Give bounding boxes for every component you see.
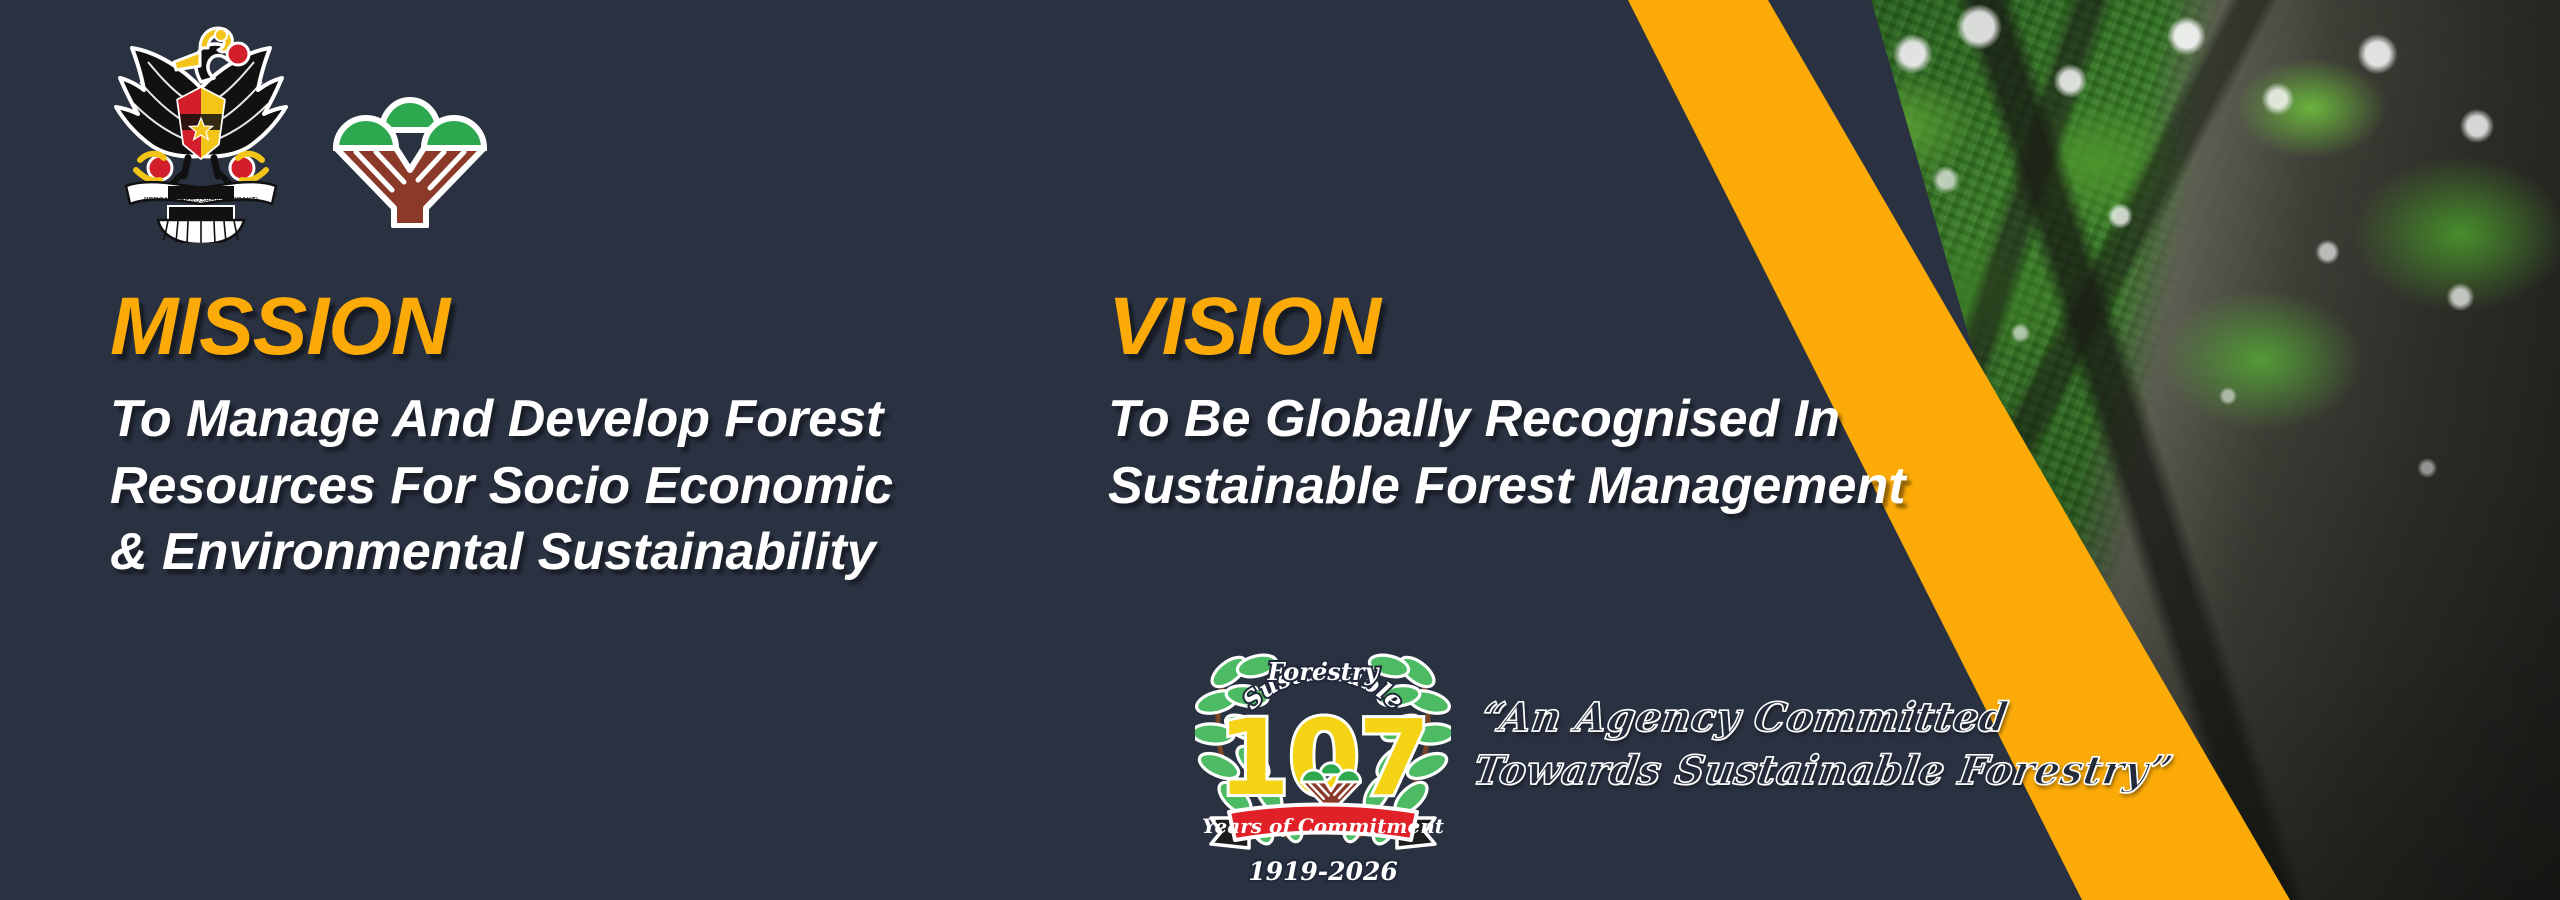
vision-line-2: Sustainable Forest Management [1108,453,2088,520]
tagline-line-2: Towards Sustainable Forestry” [1470,745,2078,798]
anniversary-emblem-icon: Sustainable Forestry 107 [1195,622,1451,890]
emblem-forestry-text: Forestry [1267,657,1381,686]
mission-line-1: To Manage And Develop Forest [110,386,1030,453]
tagline-line-1: “An Agency Committed [1478,692,2086,745]
forest-department-tree-icon [330,18,490,228]
mission-line-3: & Environmental Sustainability [110,519,1030,586]
sarawak-coat-of-arms-icon: BERSATU BERUSAHA BERBAKTI [96,18,306,243]
mission-vision-banner: BERSATU BERUSAHA BERBAKTI [0,0,2560,900]
mission-heading: MISSION [110,286,1030,368]
vision-heading: VISION [1108,286,2088,368]
logo-group: BERSATU BERUSAHA BERBAKTI [96,18,490,243]
mission-line-2: Resources For Socio Economic [110,453,1030,520]
emblem-years-text: 1919-2026 [1248,857,1398,886]
anniversary-emblem: Sustainable Forestry 107 [1195,622,1451,890]
agency-tagline: “An Agency Committed Towards Sustainable… [1470,692,2087,798]
vision-statement: To Be Globally Recognised In Sustainable… [1108,386,2088,519]
svg-text:BERSATU BERUSAHA BERBAKTI: BERSATU BERUSAHA BERBAKTI [144,197,258,204]
vision-block: VISION To Be Globally Recognised In Sust… [1108,286,2088,519]
vision-line-1: To Be Globally Recognised In [1108,386,2088,453]
emblem-ribbon-text: Years of Commitment [1202,814,1445,838]
mission-block: MISSION To Manage And Develop Forest Res… [110,286,1030,586]
mission-statement: To Manage And Develop Forest Resources F… [110,386,1030,586]
